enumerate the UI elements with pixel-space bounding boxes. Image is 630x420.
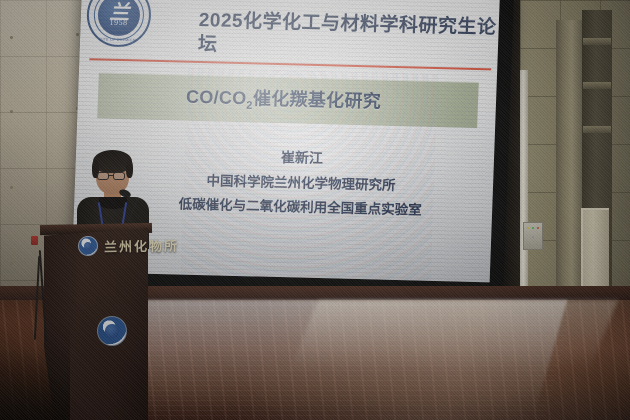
podium-front-emblem-icon bbox=[97, 316, 127, 346]
podium-emblem-icon bbox=[78, 236, 98, 256]
institute-logo-icon: 兰 1958 INSTITUTE OF CHEMICAL PHYSICS CAS bbox=[86, 0, 152, 48]
wall-control-panel[interactable] bbox=[523, 222, 543, 250]
wall-pillar bbox=[556, 20, 582, 320]
talk-title-suffix: 催化羰基化研究 bbox=[253, 88, 382, 111]
indicator-led-icon bbox=[532, 236, 534, 238]
panel-stud bbox=[10, 36, 13, 39]
indicator-led-icon bbox=[527, 227, 529, 229]
panel-stud bbox=[10, 262, 13, 265]
panel-stud bbox=[10, 186, 13, 189]
indicator-led-icon bbox=[532, 227, 534, 229]
podium-text: 兰州化物所 bbox=[104, 235, 179, 255]
presentation-photo-scene: 兰 1958 INSTITUTE OF CHEMICAL PHYSICS CAS… bbox=[0, 0, 630, 420]
niche-shelf bbox=[583, 82, 611, 89]
logo-arc-text: INSTITUTE OF CHEMICAL PHYSICS CAS bbox=[88, 37, 148, 43]
logo-year: 1958 bbox=[88, 17, 148, 28]
water-cup bbox=[31, 236, 38, 245]
speaker-collar bbox=[99, 197, 127, 209]
indicator-led-icon bbox=[537, 227, 539, 229]
niche-shelf bbox=[583, 126, 611, 133]
talk-title-prefix: CO/CO bbox=[186, 87, 247, 109]
slide-header-title: 2025化学化工与材料学科研究生论坛 bbox=[197, 9, 499, 64]
speaker-hair-side bbox=[126, 160, 133, 178]
panel-stud bbox=[76, 33, 79, 36]
foreground-shadow bbox=[0, 320, 70, 420]
panel-stud bbox=[10, 110, 13, 113]
glasses-bridge bbox=[109, 175, 113, 176]
glasses-icon bbox=[113, 172, 125, 180]
glasses-icon bbox=[97, 172, 109, 180]
niche-shelf bbox=[583, 38, 611, 45]
